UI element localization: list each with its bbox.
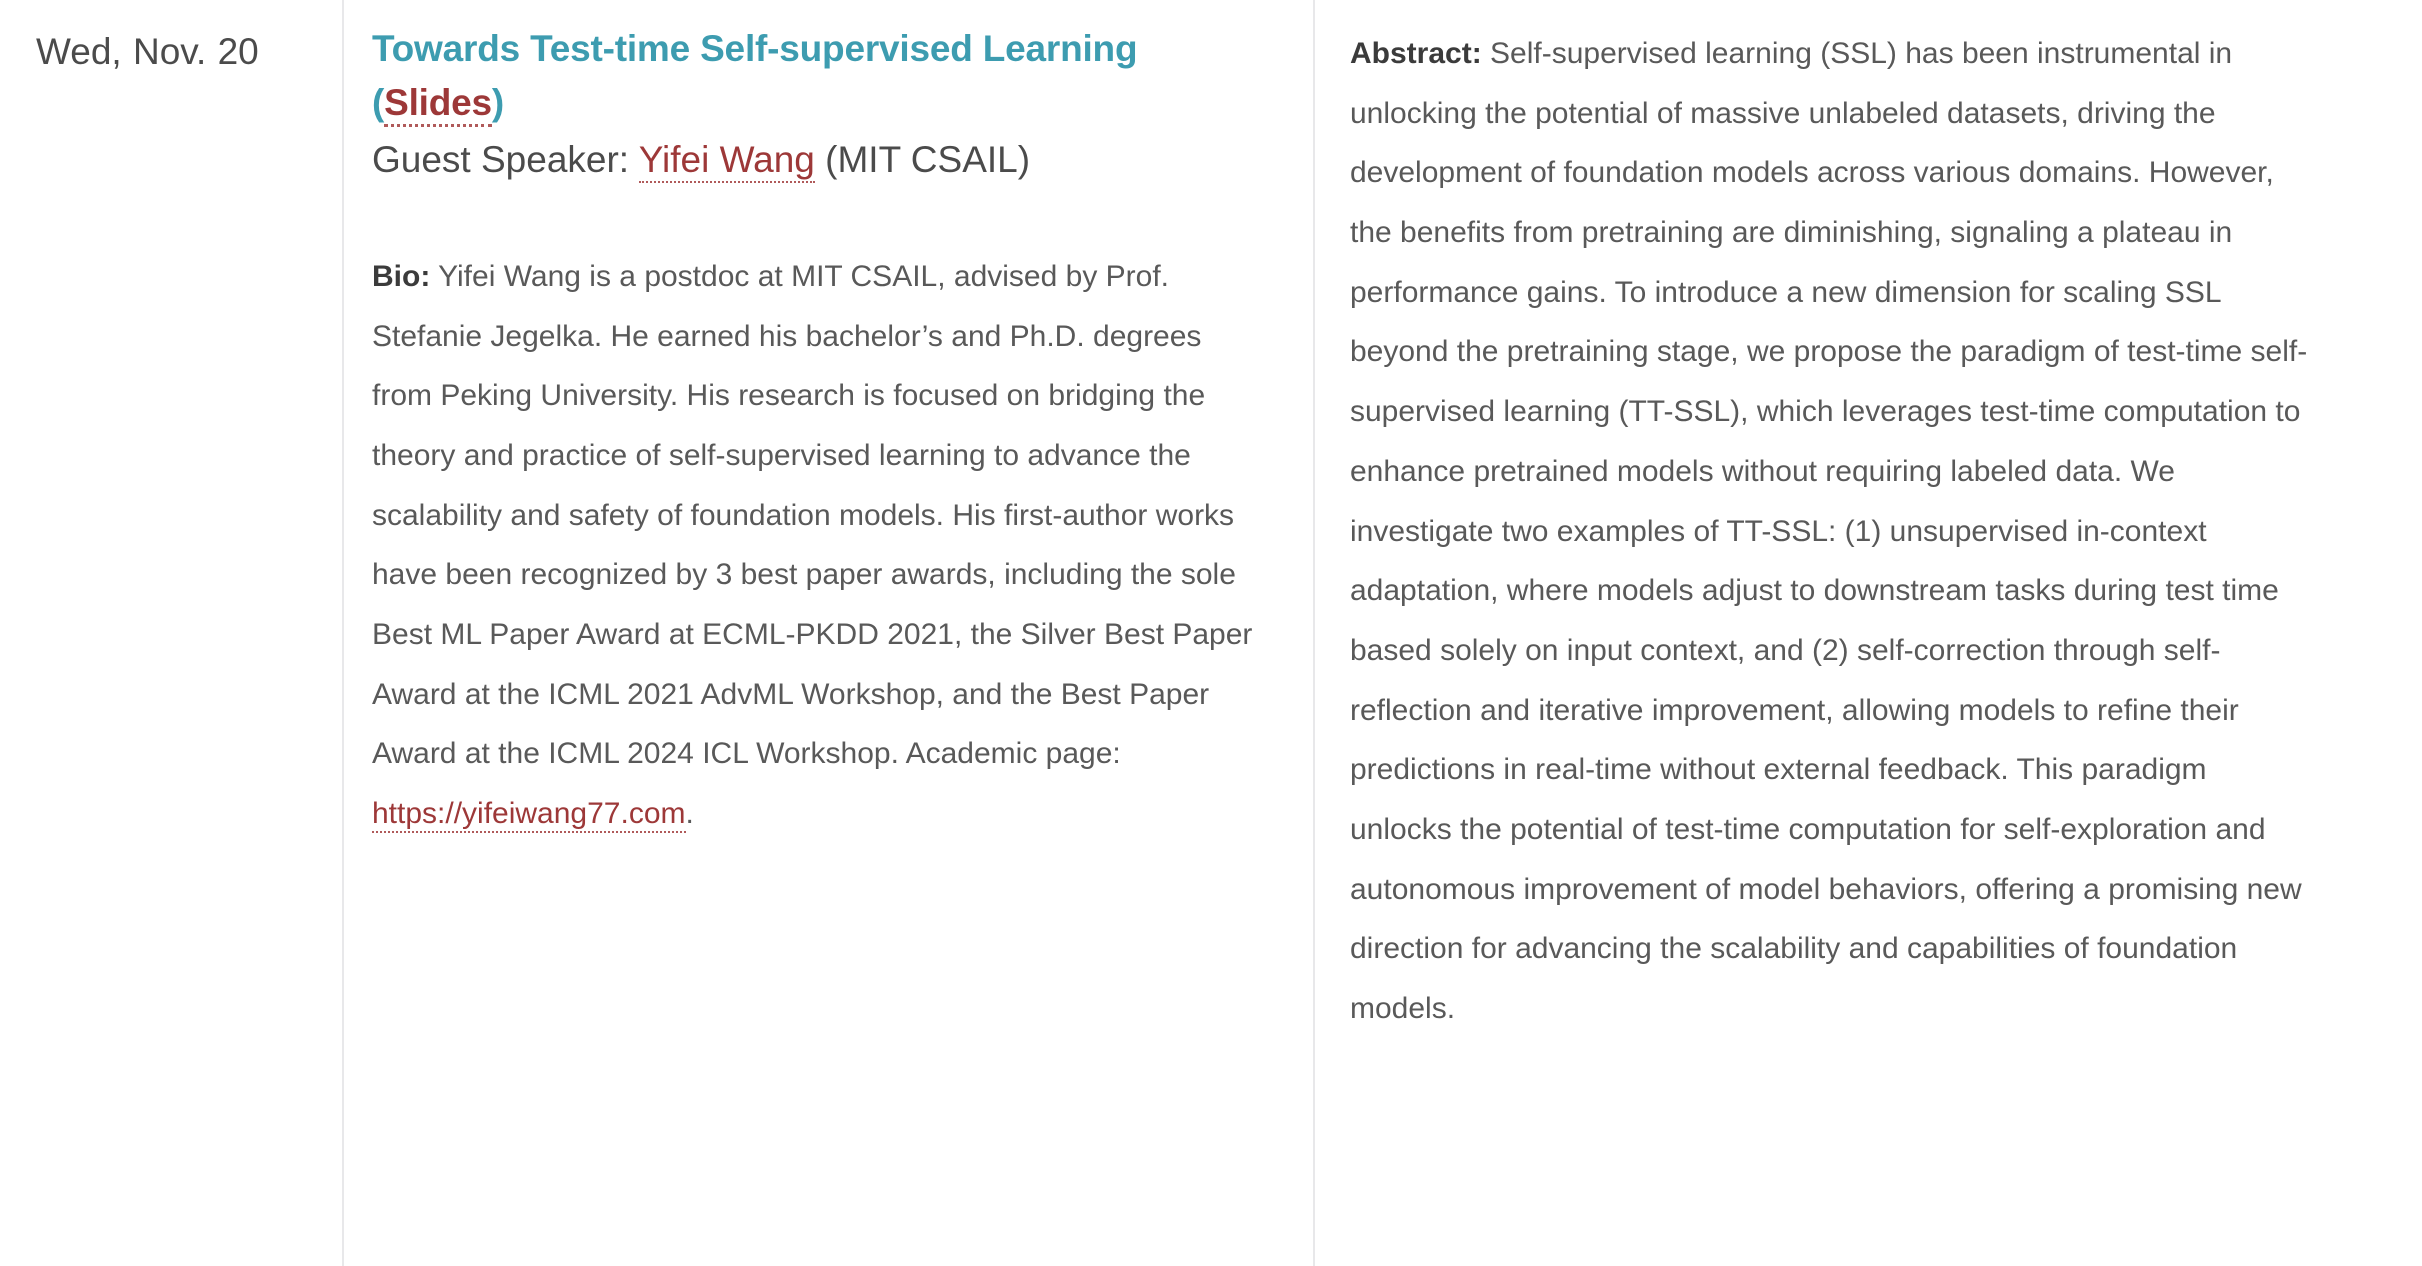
talk-speaker-line: Guest Speaker: Yifei Wang (MIT CSAIL) — [372, 133, 1263, 187]
speaker-prefix-label: Guest Speaker: — [372, 139, 639, 180]
speaker-affiliation: (MIT CSAIL) — [815, 139, 1030, 180]
bio-text: Yifei Wang is a postdoc at MIT CSAIL, ad… — [372, 260, 1252, 771]
seminar-date-cell: Wed, Nov. 20 — [0, 0, 344, 1266]
talk-title-text: Towards Test-time Self-supervised Learni… — [372, 28, 1137, 69]
abstract-label: Abstract: — [1350, 37, 1482, 70]
seminar-schedule-row: Wed, Nov. 20 Towards Test-time Self-supe… — [0, 0, 2422, 1266]
talk-abstract: Abstract: Self-supervised learning (SSL)… — [1350, 24, 2312, 1039]
seminar-abstract-cell: Abstract: Self-supervised learning (SSL)… — [1315, 0, 2422, 1266]
bio-label: Bio: — [372, 260, 430, 293]
seminar-date: Wed, Nov. 20 — [36, 22, 296, 82]
abstract-text: Self-supervised learning (SSL) has been … — [1350, 37, 2307, 1025]
seminar-talk-cell: Towards Test-time Self-supervised Learni… — [344, 0, 1315, 1266]
talk-title-paren-open: ( — [372, 82, 384, 123]
speaker-bio: Bio: Yifei Wang is a postdoc at MIT CSAI… — [372, 247, 1263, 844]
slides-link[interactable]: Slides — [384, 82, 492, 127]
speaker-homepage-link[interactable]: Yifei Wang — [639, 139, 815, 183]
talk-title-paren-close: ) — [492, 82, 504, 123]
talk-title: Towards Test-time Self-supervised Learni… — [372, 22, 1263, 129]
bio-text-tail: . — [686, 797, 694, 830]
academic-page-link[interactable]: https://yifeiwang77.com — [372, 797, 686, 833]
